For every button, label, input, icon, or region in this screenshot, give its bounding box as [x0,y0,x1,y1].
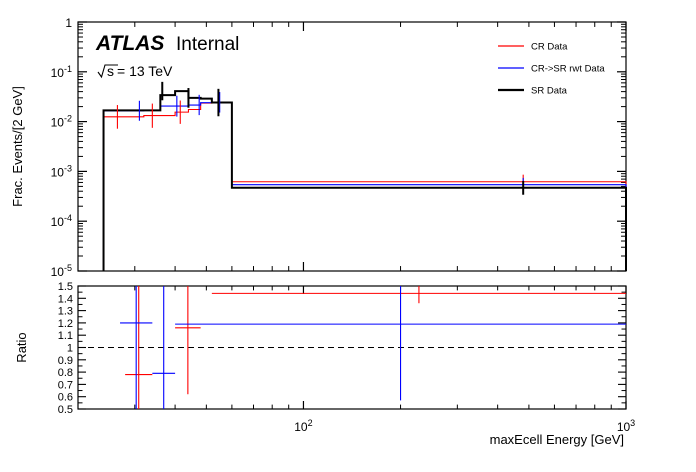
ratio-y-tick-label-1: 0.6 [58,392,73,404]
ratio-y-tick-label-4: 0.9 [58,355,73,367]
ratio-y-tick-label-0: 0.5 [58,404,73,416]
ratio-y-tick-label-8: 1.3 [58,306,73,318]
y-tick-label: 10-5 [51,263,72,279]
y-tick-label: 10-2 [51,114,72,130]
ratio-y-tick-label-5: 1 [67,343,73,355]
y-axis-title: Frac. Events/[2 GeV] [10,86,25,207]
ratio-y-tick-label-2: 0.7 [58,379,73,391]
legend-label-1: CR->SR rwt Data [531,64,605,75]
ratio-y-tick-label-7: 1.2 [58,318,73,330]
y-tick-label: 10-3 [51,163,72,179]
histogram-series-1 [104,102,626,271]
ratio-y-tick-label-9: 1.4 [58,293,73,305]
ratio-y-tick-label-6: 1.1 [58,330,73,342]
ratio-y-axis-title: Ratio [14,332,29,362]
cme-prefix-label: s [107,63,114,79]
atlas-physics-plot: 110-110-210-310-410-5Frac. Events/[2 GeV… [0,0,696,472]
ratio-y-tick-label-3: 0.8 [58,367,73,379]
histogram-series-2 [104,91,626,271]
x-tick-label-0: 102 [294,418,312,434]
y-tick-label: 10-4 [51,213,72,229]
x-axis-title: maxEcell Energy [GeV] [490,432,624,447]
legend-label-2: SR Data [531,86,568,97]
legend-label-0: CR Data [531,42,568,53]
main-plot-frame [78,22,626,271]
y-tick-label: 1 [65,16,72,30]
cme-value-label: = 13 TeV [117,63,173,79]
ratio-y-tick-label-10: 1.5 [58,281,73,293]
plot-canvas: 110-110-210-310-410-5Frac. Events/[2 GeV… [0,0,696,472]
y-tick-label: 10-1 [51,64,72,80]
atlas-status-label: Internal [176,34,239,55]
atlas-label: ATLAS [95,32,164,55]
